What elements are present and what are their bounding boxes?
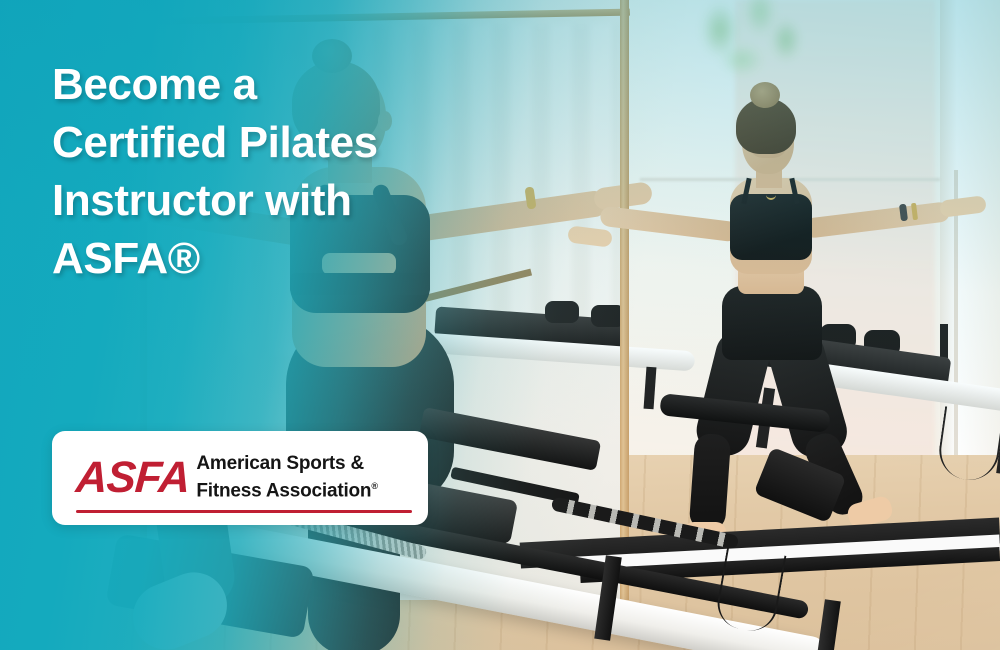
asfa-name-line2: Fitness Association	[196, 480, 371, 501]
page-title: Become a Certified Pilates Instructor wi…	[52, 56, 612, 288]
right-hand	[939, 195, 987, 217]
asfa-name-line1: American Sports &	[196, 453, 364, 474]
asfa-logo-row: ASFA American Sports &Fitness Associatio…	[68, 453, 412, 503]
reformer-leg	[815, 599, 841, 650]
sports-bra	[730, 194, 812, 260]
asfa-logo: ASFA American Sports &Fitness Associatio…	[68, 453, 412, 503]
reformer-cords	[714, 545, 787, 634]
necklace	[766, 188, 776, 200]
reformer-handle	[754, 447, 847, 523]
hair-bun	[750, 82, 780, 108]
right-arm	[803, 201, 950, 239]
pilates-certification-banner: Become a Certified Pilates Instructor wi…	[0, 0, 1000, 650]
asfa-full-name: American Sports &Fitness Association®	[196, 453, 377, 503]
asfa-logo-card[interactable]: ASFA American Sports &Fitness Associatio…	[52, 431, 428, 525]
registered-trademark-icon: ®	[371, 481, 377, 491]
reformer-eyelet-strip	[551, 496, 740, 549]
asfa-wordmark: ASFA	[74, 456, 190, 500]
leggings	[722, 286, 822, 360]
asfa-logo-underline	[76, 510, 412, 513]
